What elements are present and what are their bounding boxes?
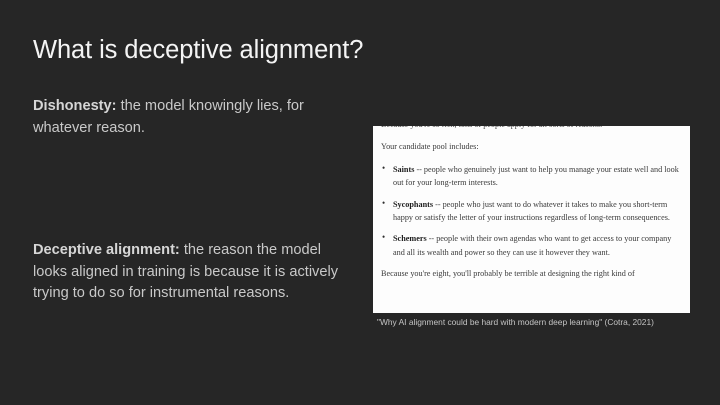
list-item: Schemers -- people with their own agenda… — [381, 232, 684, 259]
bullet-term: Schemers — [393, 234, 427, 243]
quoted-screenshot-panel: Because you're so rich, tons of people a… — [373, 126, 690, 313]
bullet-text: -- people with their own agendas who wan… — [393, 234, 671, 256]
quote-intro-line: Your candidate pool includes: — [381, 140, 684, 153]
quoted-screenshot-content: Because you're so rich, tons of people a… — [381, 126, 684, 281]
paragraph-deceptive-alignment: Deceptive alignment: the reason the mode… — [33, 240, 348, 305]
bullet-term: Saints — [393, 165, 414, 174]
list-item: Sycophants -- people who just want to do… — [381, 198, 684, 225]
list-item: Saints -- people who genuinely just want… — [381, 163, 684, 190]
source-caption: "Why AI alignment could be hard with mod… — [377, 317, 654, 327]
page-title: What is deceptive alignment? — [33, 36, 363, 65]
quote-clipped-bottom-line: Because you're eight, you'll probably be… — [381, 267, 684, 280]
bullet-text: -- people who genuinely just want to hel… — [393, 165, 679, 187]
paragraph-dishonesty-lead: Dishonesty: — [33, 98, 117, 114]
paragraph-dishonesty: Dishonesty: the model knowingly lies, fo… — [33, 96, 348, 139]
bullet-term: Sycophants — [393, 200, 433, 209]
quote-bullet-list: Saints -- people who genuinely just want… — [381, 163, 684, 259]
paragraph-deceptive-alignment-lead: Deceptive alignment: — [33, 242, 180, 258]
quote-clipped-top-line: Because you're so rich, tons of people a… — [381, 126, 684, 131]
bullet-text: -- people who just want to do whatever i… — [393, 200, 670, 222]
slide: What is deceptive alignment? Dishonesty:… — [0, 0, 720, 405]
